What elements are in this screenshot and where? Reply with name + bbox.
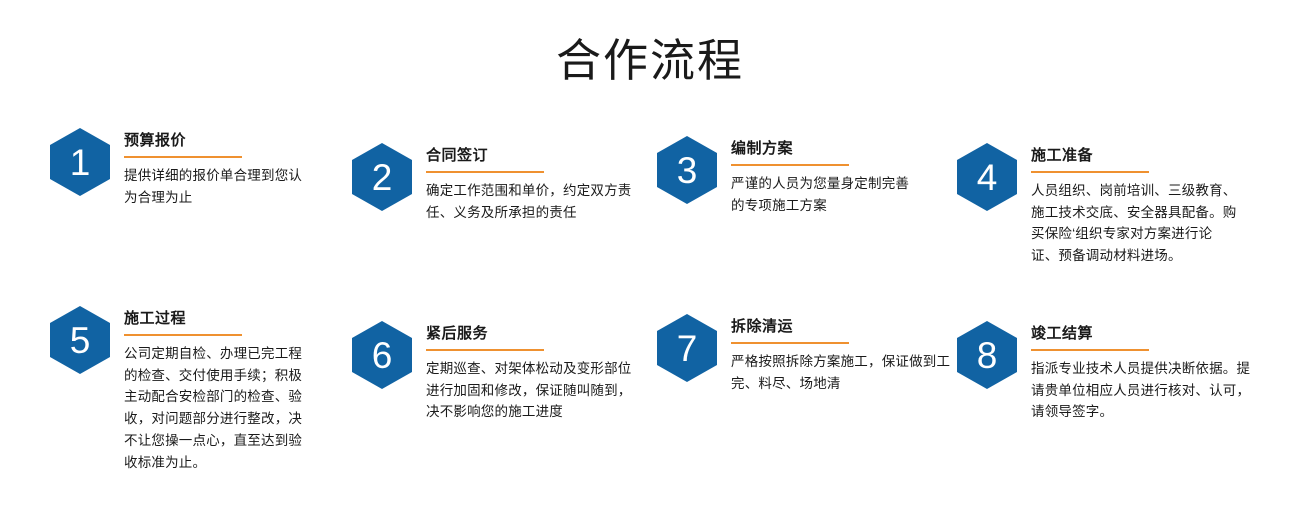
title-underline-rule <box>124 156 242 158</box>
title-underline-rule <box>426 171 544 173</box>
step-description-1: 提供详细的报价单合理到您认为合理为止 <box>124 165 304 209</box>
step-title-4: 施工准备 <box>1031 147 1239 166</box>
title-underline-rule <box>731 342 849 344</box>
step-item-6[interactable]: 6 紧后服务 定期巡查、对架体松动及变形部位进行加固和修改，保证随叫随到，决不影… <box>352 321 634 423</box>
step-title-6: 紧后服务 <box>426 325 634 344</box>
step-item-7[interactable]: 7 拆除清运 严格按照拆除方案施工，保证做到工完、料尽、场地清 <box>657 314 963 394</box>
step-title-3: 编制方案 <box>731 140 911 159</box>
step-text-6: 紧后服务 定期巡查、对架体松动及变形部位进行加固和修改，保证随叫随到，决不影响您… <box>426 321 634 423</box>
step-number-4: 4 <box>957 143 1017 211</box>
hexagon-badge-3: 3 <box>657 136 717 204</box>
step-item-1[interactable]: 1 预算报价 提供详细的报价单合理到您认为合理为止 <box>50 128 304 208</box>
step-title-2: 合同签订 <box>426 147 634 166</box>
title-underline-rule <box>1031 349 1149 351</box>
step-title-7: 拆除清运 <box>731 318 963 337</box>
hexagon-badge-5: 5 <box>50 306 110 374</box>
title-underline-rule <box>426 349 544 351</box>
step-description-8: 指派专业技术人员提供决断依据。提请贵单位相应人员进行核对、认可，请领导签字。 <box>1031 358 1263 424</box>
title-underline-rule <box>731 164 849 166</box>
step-item-4[interactable]: 4 施工准备 人员组织、岗前培训、三级教育、施工技术交底、安全器具配备。购买保险… <box>957 143 1239 267</box>
step-text-7: 拆除清运 严格按照拆除方案施工，保证做到工完、料尽、场地清 <box>731 314 963 394</box>
step-number-6: 6 <box>352 321 412 389</box>
step-text-1: 预算报价 提供详细的报价单合理到您认为合理为止 <box>124 128 304 208</box>
step-description-4: 人员组织、岗前培训、三级教育、施工技术交底、安全器具配备。购买保险‘组织专家对方… <box>1031 180 1239 267</box>
step-item-5[interactable]: 5 施工过程 公司定期自检、办理已完工程的检查、交付使用手续；积极主动配合安检部… <box>50 306 304 474</box>
step-text-5: 施工过程 公司定期自检、办理已完工程的检查、交付使用手续；积极主动配合安检部门的… <box>124 306 304 474</box>
title-underline-rule <box>1031 171 1149 173</box>
step-number-3: 3 <box>657 136 717 204</box>
step-item-2[interactable]: 2 合同签订 确定工作范围和单价，约定双方责任、义务及所承担的责任 <box>352 143 634 223</box>
hexagon-badge-4: 4 <box>957 143 1017 211</box>
hexagon-badge-6: 6 <box>352 321 412 389</box>
step-text-8: 竣工结算 指派专业技术人员提供决断依据。提请贵单位相应人员进行核对、认可，请领导… <box>1031 321 1263 423</box>
step-description-5: 公司定期自检、办理已完工程的检查、交付使用手续；积极主动配合安检部门的检查、验收… <box>124 343 304 474</box>
step-item-3[interactable]: 3 编制方案 严谨的人员为您量身定制完善的专项施工方案 <box>657 136 911 216</box>
step-item-8[interactable]: 8 竣工结算 指派专业技术人员提供决断依据。提请贵单位相应人员进行核对、认可，请… <box>957 321 1263 423</box>
hexagon-badge-7: 7 <box>657 314 717 382</box>
hexagon-badge-1: 1 <box>50 128 110 196</box>
step-text-3: 编制方案 严谨的人员为您量身定制完善的专项施工方案 <box>731 136 911 216</box>
step-text-4: 施工准备 人员组织、岗前培训、三级教育、施工技术交底、安全器具配备。购买保险‘组… <box>1031 143 1239 267</box>
hexagon-badge-8: 8 <box>957 321 1017 389</box>
step-description-2: 确定工作范围和单价，约定双方责任、义务及所承担的责任 <box>426 180 634 224</box>
process-row-top: 1 预算报价 提供详细的报价单合理到您认为合理为止 2 合同签订 确定工作范围和… <box>0 128 1300 306</box>
step-number-2: 2 <box>352 143 412 211</box>
process-flow-diagram: 1 预算报价 提供详细的报价单合理到您认为合理为止 2 合同签订 确定工作范围和… <box>0 128 1300 516</box>
process-row-bottom: 5 施工过程 公司定期自检、办理已完工程的检查、交付使用手续；积极主动配合安检部… <box>0 306 1300 516</box>
hexagon-badge-2: 2 <box>352 143 412 211</box>
step-number-1: 1 <box>50 128 110 196</box>
step-text-2: 合同签订 确定工作范围和单价，约定双方责任、义务及所承担的责任 <box>426 143 634 223</box>
step-number-5: 5 <box>50 306 110 374</box>
page-title: 合作流程 <box>0 0 1300 83</box>
step-title-8: 竣工结算 <box>1031 325 1263 344</box>
step-number-7: 7 <box>657 314 717 382</box>
step-title-1: 预算报价 <box>124 132 304 151</box>
step-description-7: 严格按照拆除方案施工，保证做到工完、料尽、场地清 <box>731 351 963 395</box>
step-number-8: 8 <box>957 321 1017 389</box>
title-underline-rule <box>124 334 242 336</box>
step-description-3: 严谨的人员为您量身定制完善的专项施工方案 <box>731 173 911 217</box>
step-description-6: 定期巡查、对架体松动及变形部位进行加固和修改，保证随叫随到，决不影响您的施工进度 <box>426 358 634 424</box>
step-title-5: 施工过程 <box>124 310 304 329</box>
